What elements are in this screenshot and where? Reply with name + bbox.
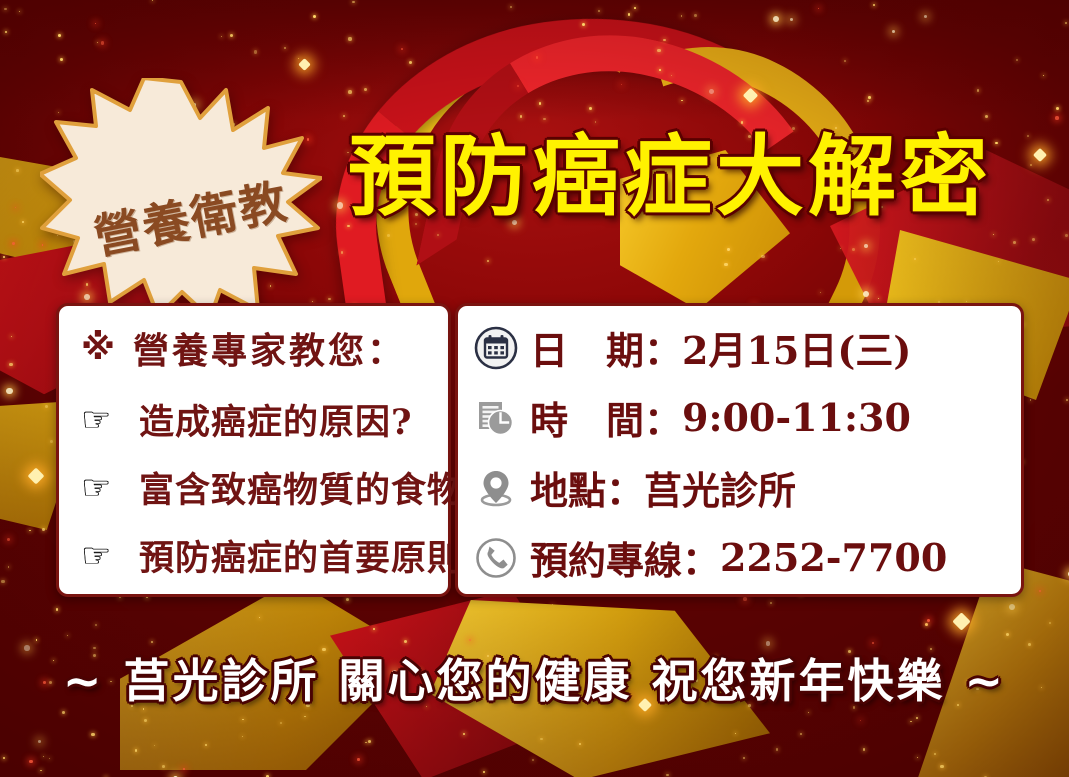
detail-row-phone: 預約專線： 2252-7700 [470,530,947,585]
detail-row-time: 時 間： 9:00-11:30 [470,390,911,445]
topics-heading: ※ 營養專家教您： [81,322,406,374]
starburst-badge: 營養衛教 [40,78,322,318]
reference-mark-icon: ※ [81,331,115,366]
pointing-hand-icon: ☞ [81,403,127,437]
calendar-icon [470,322,522,374]
topic-item-2: ☞ 富含致癌物質的食物 [81,462,463,513]
topic-item-1: ☞ 造成癌症的原因? [81,394,413,445]
badge-text-wrap: 營養衛教 [40,78,322,318]
topic-item-3-text: 預防癌症的首要原則 [139,530,463,581]
detail-row-location-value: 莒光診所 [644,460,796,515]
topic-item-1-text: 造成癌症的原因? [139,394,413,445]
phone-icon [470,532,522,584]
pointing-hand-icon: ☞ [81,539,127,573]
topic-item-2-text: 富含致癌物質的食物 [139,462,463,513]
topics-panel: ※ 營養專家教您： ☞ 造成癌症的原因? ☞ 富含致癌物質的食物 ☞ 預防癌症的… [56,303,451,597]
poster-title: 預防癌症大解密 [348,133,992,221]
bottom-banner: ~ 莒光診所 關心您的健康 祝您新年快樂 ~ [0,645,1069,711]
detail-row-date-value: 2月15日(三) [682,320,911,375]
pointing-hand-icon: ☞ [81,471,127,505]
detail-row-date-label: 日 期： [530,320,682,375]
detail-row-time-label: 時 間： [530,390,682,445]
detail-row-phone-value: 2252-7700 [720,535,947,580]
poster-canvas: 營養衛教 預防癌症大解密 ※ 營養專家教您： ☞ 造成癌症的原因? ☞ 富含致癌… [0,0,1069,777]
detail-row-phone-label: 預約專線： [530,530,720,585]
detail-row-location-label: 地點： [530,460,644,515]
detail-row-date: 日 期： 2月15日(三) [470,320,911,375]
details-panel: 日 期： 2月15日(三) 時 間： 9:00-11:30 [455,303,1024,597]
detail-row-location: 地點： 莒光診所 [470,460,796,515]
topics-heading-text: 營養專家教您： [133,322,406,374]
map-pin-icon [470,462,522,514]
topic-item-3: ☞ 預防癌症的首要原則 [81,530,463,581]
badge-label: 營養衛教 [88,162,294,267]
detail-row-time-value: 9:00-11:30 [682,395,911,440]
time-document-icon [470,392,522,444]
